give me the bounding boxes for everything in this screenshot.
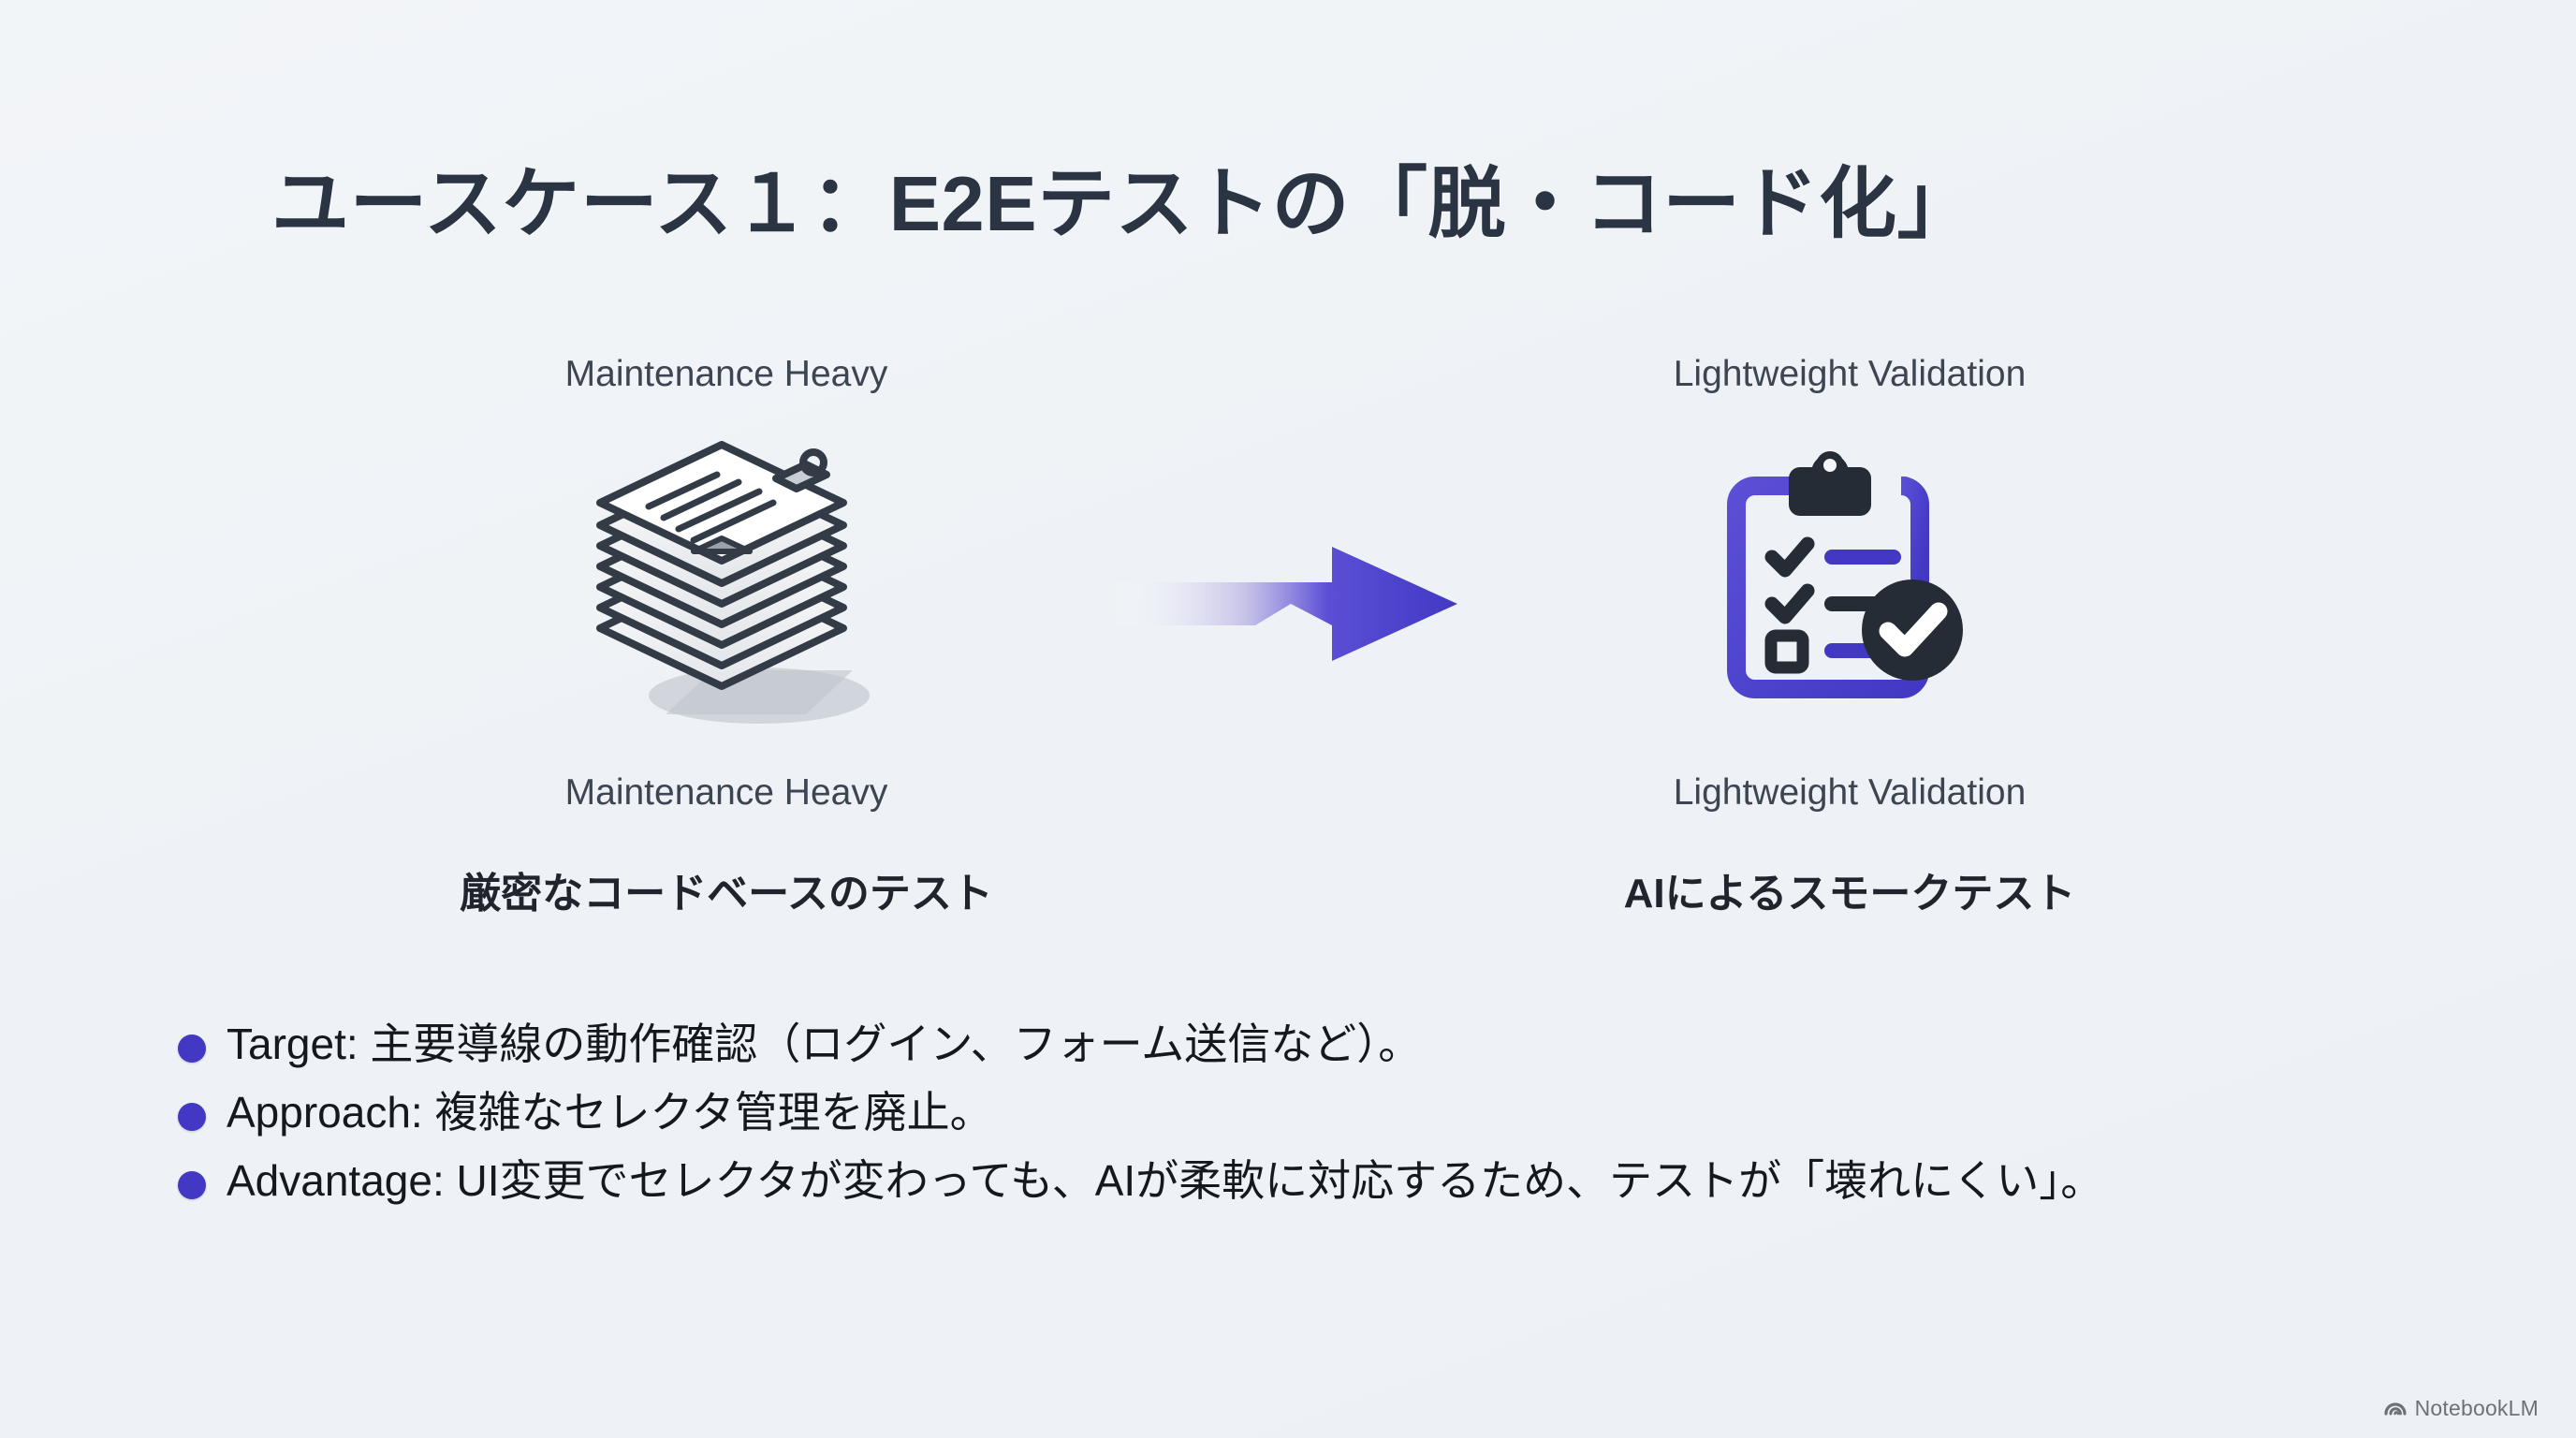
- comparison-left-column: Maintenance Heavy: [361, 356, 1091, 919]
- bullet-text: Target: 主要導線の動作確認（ログイン、フォーム送信など）。: [227, 1016, 1421, 1073]
- transition-arrow: [1091, 543, 1485, 665]
- left-label-top: Maintenance Heavy: [565, 356, 888, 392]
- watermark-label: NotebookLM: [2415, 1396, 2539, 1421]
- bullet-dot-icon: [178, 1103, 206, 1131]
- list-item: Advantage: UI変更でセレクタが変わっても、AIが柔軟に対応するため、…: [178, 1152, 2424, 1210]
- notebooklm-watermark: NotebookLM: [2384, 1396, 2539, 1421]
- bullet-dot-icon: [178, 1171, 206, 1199]
- bullet-list: Target: 主要導線の動作確認（ログイン、フォーム送信など）。 Approa…: [178, 1016, 2424, 1222]
- paper-stack-icon: [572, 432, 881, 741]
- left-label-bottom: Maintenance Heavy: [565, 774, 888, 811]
- right-caption: AIによるスモークテスト: [1624, 859, 2076, 919]
- right-label-top: Lightweight Validation: [1674, 356, 2027, 392]
- bullet-text: Advantage: UI変更でセレクタが変わっても、AIが柔軟に対応するため、…: [227, 1152, 2103, 1210]
- list-item: Approach: 複雑なセレクタ管理を廃止。: [178, 1084, 2424, 1141]
- checklist-clipboard-icon: [1714, 432, 1985, 741]
- comparison-row: Maintenance Heavy: [0, 356, 2576, 936]
- bullet-dot-icon: [178, 1034, 206, 1063]
- left-caption: 厳密なコードベースのテスト: [460, 859, 993, 919]
- comparison-right-column: Lightweight Validation: [1485, 356, 2215, 919]
- right-label-bottom: Lightweight Validation: [1674, 774, 2027, 811]
- list-item: Target: 主要導線の動作確認（ログイン、フォーム送信など）。: [178, 1016, 2424, 1073]
- right-arrow-icon: [1115, 543, 1461, 665]
- bullet-text: Approach: 複雑なセレクタ管理を廃止。: [227, 1084, 993, 1141]
- notebooklm-spiral-icon: [2384, 1397, 2407, 1420]
- page-title: ユースケース１：E2Eテストの「脱・コード化」: [271, 140, 1975, 253]
